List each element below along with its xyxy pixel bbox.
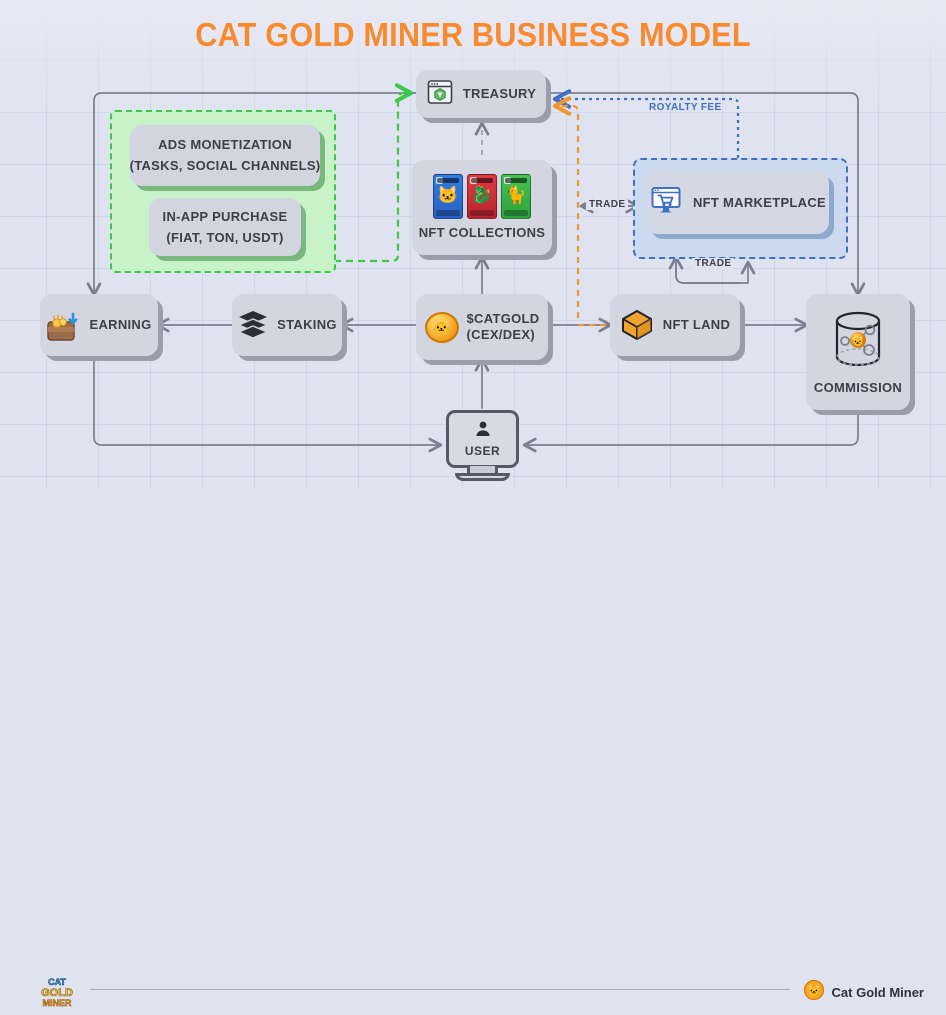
footer-brand: 🐱 Cat Gold Miner [803,979,924,1006]
orange-cube-icon [620,308,654,342]
node-ads-monetization[interactable]: ADS MONETIZATION (TASKS, SOCIAL CHANNELS… [130,125,320,186]
edge-label-royalty-fee: ROYALTY FEE [646,102,725,113]
node-nft-land[interactable]: NFT LAND [610,294,740,356]
in-app-purchase-line1: IN-APP PURCHASE [163,209,288,225]
cat-coin-icon: 🐱 [803,979,825,1006]
database-network-icon: 🐱 [829,309,887,376]
node-earning-label: EARNING [89,317,151,333]
svg-text:🐱: 🐱 [807,984,821,997]
node-earning[interactable]: EARNING [40,294,158,356]
user-monitor-base [455,473,510,481]
wallet-coins-icon [46,310,82,340]
monetization-group: ADS MONETIZATION (TASKS, SOCIAL CHANNELS… [110,110,336,273]
node-treasury-label: TREASURY [463,86,536,102]
edge-commission-to-user [525,410,858,445]
svg-text:🐱: 🐱 [852,335,865,347]
gold-cat-coin-icon: 🐱 [425,312,459,343]
ads-monetization-line2: (TASKS, SOCIAL CHANNELS) [130,158,321,174]
node-staking[interactable]: STAKING [232,294,342,356]
edge-earning-to-user [94,358,440,445]
node-nft-marketplace-label: NFT MARKETPLACE [693,195,826,211]
ton-wallet-window-icon [426,78,454,111]
ads-monetization-line1: ADS MONETIZATION [158,137,292,153]
in-app-purchase-line2: (FIAT, TON, USDT) [166,230,283,246]
node-treasury[interactable]: TREASURY [416,70,546,118]
nft-cards-icon: 🐱 🐉 🐈 [433,174,531,219]
monitor-cart-icon [649,183,683,222]
person-icon [474,420,492,443]
footer: CAT GOLD MINER 🐱 Cat Gold Miner [0,485,946,527]
footer-logo-line1: CAT [48,977,66,987]
node-nft-collections-label: NFT COLLECTIONS [419,225,546,241]
nft-card-green: 🐈 [501,174,531,219]
node-user[interactable]: USER [446,410,519,468]
edge-fee-to-treasury [556,106,578,318]
node-nft-marketplace[interactable]: NFT MARKETPLACE [646,171,829,234]
node-catgold-line2: (CEX/DEX) [467,327,540,343]
edge-label-trade-land: TRADE [692,258,734,269]
nft-card-blue: 🐱 [433,174,463,219]
node-in-app-purchase[interactable]: IN-APP PURCHASE (FIAT, TON, USDT) [149,198,301,256]
node-staking-label: STAKING [277,317,337,333]
edge-monetization-to-treasury [334,93,410,261]
footer-logo: CAT GOLD MINER [28,974,86,1010]
node-user-label: USER [465,444,500,458]
edge-label-trade-collections: TRADE [586,199,628,210]
node-commission-label: COMMISSION [814,380,902,396]
node-catgold-labels: $CATGOLD (CEX/DEX) [467,311,540,342]
footer-logo-line3: MINER [43,998,73,1008]
footer-brand-label: Cat Gold Miner [832,985,924,1000]
diagram-canvas: CAT GOLD MINER BUSINESS MODEL [0,0,946,527]
footer-divider [90,989,790,990]
node-commission[interactable]: 🐱 COMMISSION [806,294,910,410]
node-nft-collections[interactable]: 🐱 🐉 🐈 NFT COLLECTIONS [412,160,552,255]
nft-card-red: 🐉 [467,174,497,219]
layers-icon [237,308,269,343]
marketplace-group: NFT MARKETPLACE [633,158,848,259]
node-catgold[interactable]: 🐱 $CATGOLD (CEX/DEX) [416,294,548,360]
node-catgold-line1: $CATGOLD [467,311,540,327]
node-nft-land-label: NFT LAND [663,317,730,333]
